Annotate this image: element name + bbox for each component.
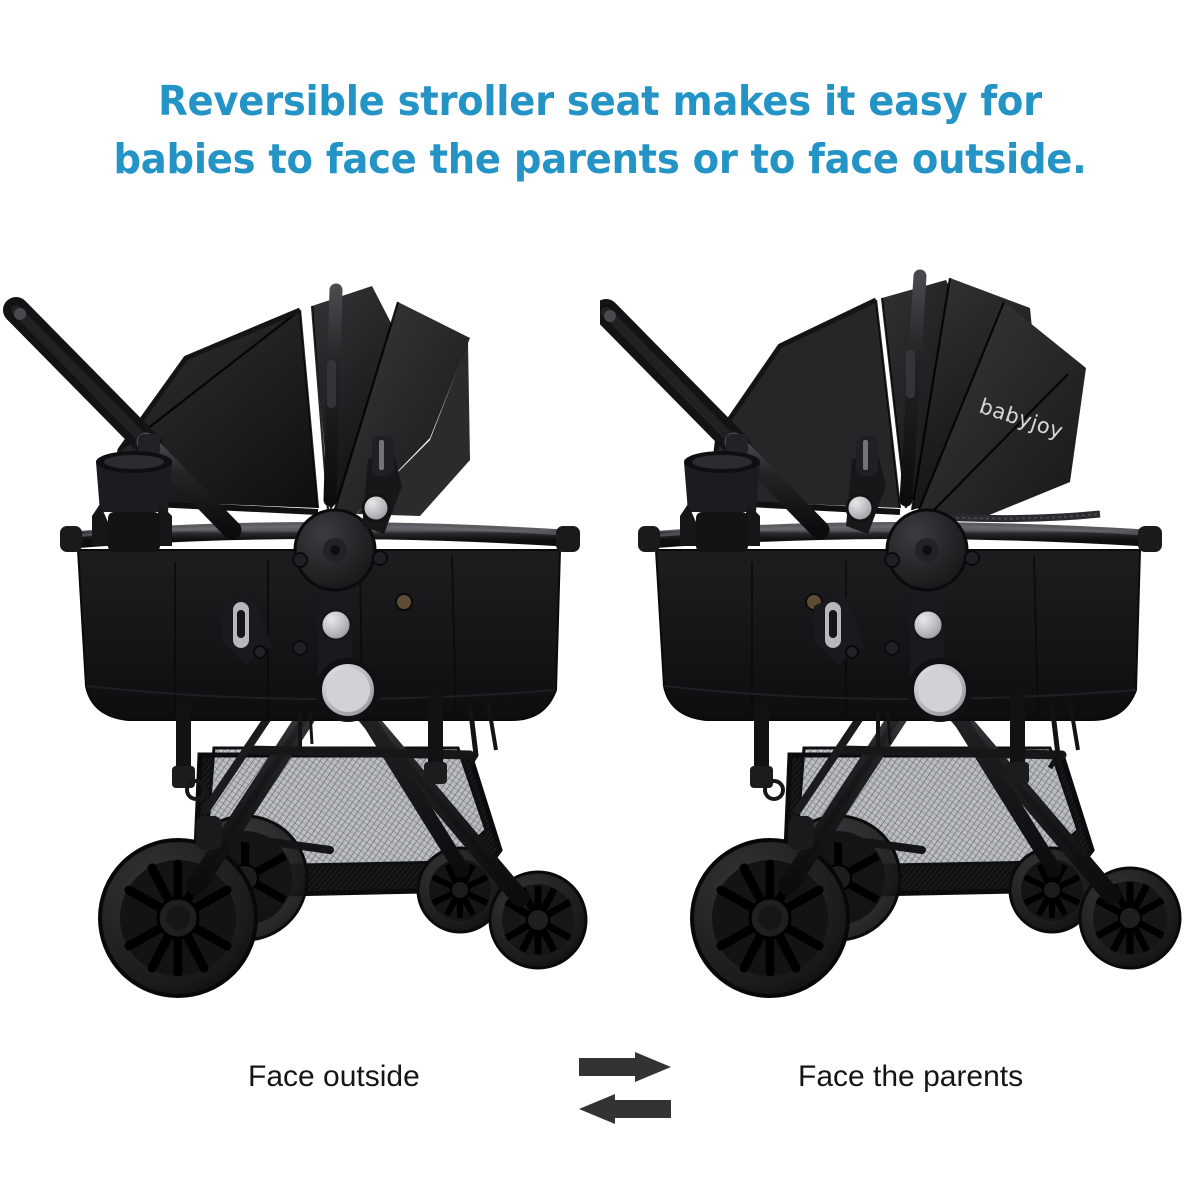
headline-line-1: Reversible stroller seat makes it easy f…	[36, 72, 1164, 130]
rear-wheel	[100, 840, 256, 996]
headline: Reversible stroller seat makes it easy f…	[0, 72, 1200, 188]
headline-line-2: babies to face the parents or to face ou…	[36, 130, 1164, 188]
stroller-face-parents: babyjoy	[600, 250, 1200, 1040]
caption-face-the-parents: Face the parents	[798, 1060, 1023, 1094]
stroller-face-outside	[0, 250, 600, 1040]
arrow-right-icon	[579, 1052, 671, 1082]
cup-holder	[92, 451, 172, 552]
stroller-illustration-right: babyjoy	[600, 250, 1200, 1040]
stroller-illustration-left	[0, 250, 600, 1040]
stroller-comparison-stage: babyjoy	[0, 250, 1200, 1040]
product-feature-image: Reversible stroller seat makes it easy f…	[0, 0, 1200, 1200]
cup-holder	[680, 451, 760, 552]
rear-wheel	[692, 840, 848, 996]
bidirectional-swap-arrows-icon	[573, 1052, 677, 1128]
arrow-left-icon	[579, 1094, 671, 1124]
caption-face-outside: Face outside	[248, 1060, 420, 1094]
